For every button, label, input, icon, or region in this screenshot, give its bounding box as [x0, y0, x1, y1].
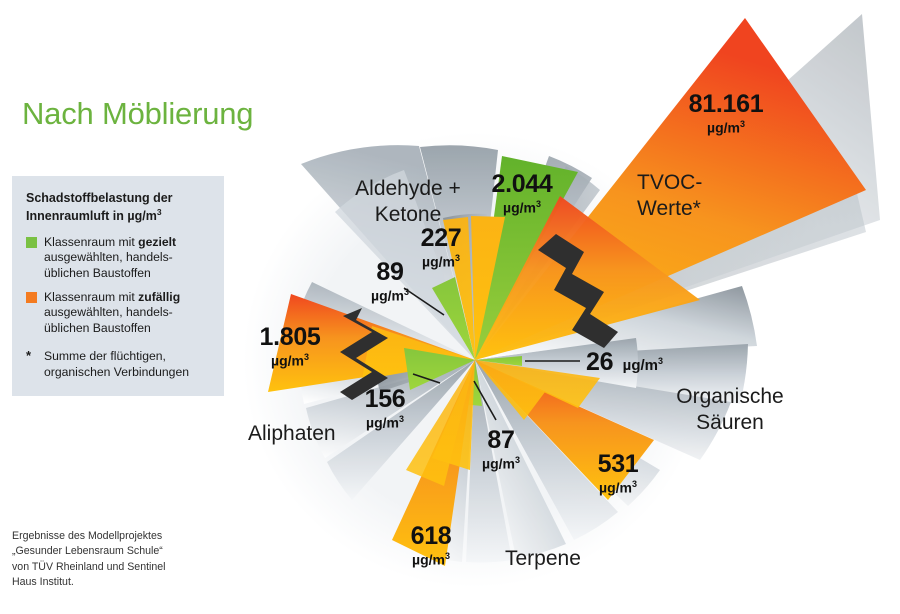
legend-zufaellig-bold: zufällig — [138, 290, 180, 304]
value-unit: µg/m3 — [411, 552, 452, 567]
footnote-line2: „Gesunder Lebensraum Schule“ — [12, 545, 163, 557]
legend-swatch-green — [26, 237, 37, 248]
legend-heading-line2: Innenraumluft in µg/m — [26, 209, 157, 223]
legend-swatch-orange — [26, 292, 37, 303]
value-aldehyde-zufaellig: 227 — [421, 226, 462, 251]
value-label-saeuren-gezielt: 26 µg/m3 — [586, 350, 663, 375]
value-aliphaten-gezielt: 156 — [365, 387, 406, 412]
asterisk-icon: * — [26, 349, 37, 363]
legend-gezielt-line2: ausgewählten, handels- — [44, 250, 173, 264]
value-tvoc-zufaellig: 81.161 — [689, 92, 764, 117]
category-label-tvoc: TVOC- Werte* — [637, 170, 702, 221]
value-label-aliphaten-gezielt: 156 µg/m3 — [365, 387, 406, 430]
value-unit: µg/m3 — [491, 200, 552, 215]
legend-box: Schadstoffbelastung der Innenraumluft in… — [12, 176, 224, 396]
value-unit: µg/m3 — [689, 120, 764, 135]
category-label-terpene: Terpene — [505, 546, 581, 572]
category-label-saeuren: Organische Säuren — [650, 384, 810, 435]
value-label-tvoc-gezielt: 2.044 µg/m3 — [491, 172, 552, 215]
source-footnote: Ergebnisse des Modellprojektes „Gesunder… — [12, 529, 242, 590]
value-unit: µg/m3 — [371, 288, 409, 303]
legend-heading-line1: Schadstoffbelastung der — [26, 191, 173, 205]
value-label-aldehyde-zufaellig: 227 µg/m3 — [421, 226, 462, 269]
legend-item-zufaellig[interactable]: Klassenraum mit zufällig ausgewählten, h… — [26, 290, 210, 336]
value-terpene-zufaellig: 618 — [411, 524, 452, 549]
value-label-saeuren-zufaellig: 531 µg/m3 — [598, 452, 639, 495]
infographic-root: Nach Möblierung Schadstoffbelastung der … — [0, 0, 900, 614]
legend-star-line1: Summe der flüchtigen, — [44, 349, 166, 363]
legend-item-gezielt[interactable]: Klassenraum mit gezielt ausgewählten, ha… — [26, 235, 210, 281]
value-terpene-gezielt: 87 — [482, 428, 520, 453]
legend-item-zufaellig-text: Klassenraum mit zufällig ausgewählten, h… — [44, 290, 180, 336]
legend-zufaellig-line2: ausgewählten, handels- — [44, 305, 173, 319]
value-saeuren-gezielt: 26 — [586, 348, 613, 376]
value-label-aliphaten-zufaellig: 1.805 µg/m3 — [259, 325, 320, 368]
value-label-aldehyde-gezielt: 89 µg/m3 — [371, 260, 409, 303]
legend-gezielt-bold: gezielt — [138, 235, 176, 249]
legend-footnote-star: * Summe der flüchtigen, organischen Verb… — [26, 349, 210, 380]
value-unit: µg/m3 — [623, 357, 663, 374]
value-unit: µg/m3 — [598, 480, 639, 495]
value-aldehyde-gezielt: 89 — [371, 260, 409, 285]
value-label-terpene-gezielt: 87 µg/m3 — [482, 428, 520, 471]
legend-star-text: Summe der flüchtigen, organischen Verbin… — [44, 349, 189, 380]
value-unit: µg/m3 — [365, 415, 406, 430]
value-tvoc-gezielt: 2.044 — [491, 172, 552, 197]
footnote-line1: Ergebnisse des Modellprojektes — [12, 530, 162, 542]
legend-zufaellig-line3: üblichen Baustoffen — [44, 321, 151, 335]
page-title: Nach Möblierung — [22, 96, 253, 132]
value-aliphaten-zufaellig: 1.805 — [259, 325, 320, 350]
value-label-terpene-zufaellig: 618 µg/m3 — [411, 524, 452, 567]
value-unit: µg/m3 — [421, 254, 462, 269]
value-label-tvoc-zufaellig: 81.161 µg/m3 — [689, 92, 764, 135]
legend-zufaellig-pre: Klassenraum mit — [44, 290, 138, 304]
legend-item-gezielt-text: Klassenraum mit gezielt ausgewählten, ha… — [44, 235, 176, 281]
legend-heading-sup: 3 — [157, 207, 162, 217]
footnote-line4: Haus Institut. — [12, 576, 74, 588]
category-label-aliphaten: Aliphaten — [248, 421, 336, 447]
legend-star-line2: organischen Verbindungen — [44, 365, 189, 379]
footnote-line3: von TÜV Rheinland und Sentinel — [12, 561, 166, 573]
value-unit: µg/m3 — [482, 456, 520, 471]
value-unit: µg/m3 — [259, 353, 320, 368]
value-saeuren-zufaellig: 531 — [598, 452, 639, 477]
legend-heading: Schadstoffbelastung der Innenraumluft in… — [26, 190, 210, 225]
category-label-aldehyde: Aldehyde + Ketone — [318, 176, 498, 227]
legend-gezielt-line3: üblichen Baustoffen — [44, 266, 151, 280]
legend-gezielt-pre: Klassenraum mit — [44, 235, 138, 249]
